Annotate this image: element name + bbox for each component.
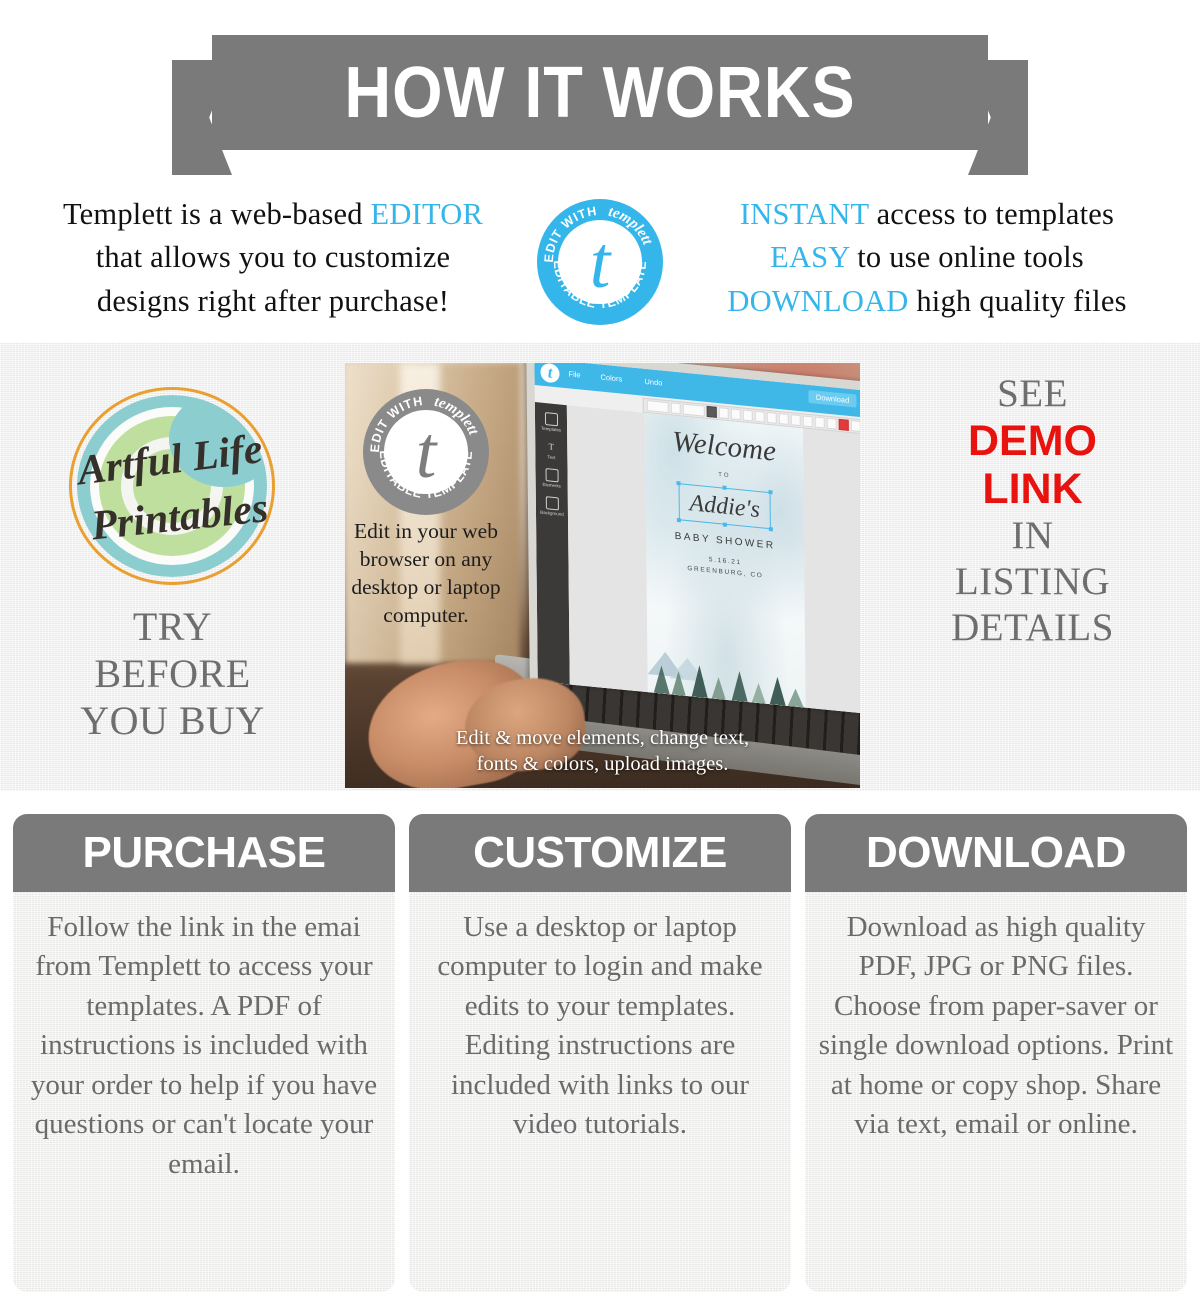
badge-bottom-arc-label: EDITABLE TEMPLATE bbox=[551, 260, 649, 311]
middle-left-column: Artful Life Printables TRY BEFORE YOU BU… bbox=[0, 343, 345, 791]
intro-right-line-1: INSTANT access to templates bbox=[688, 193, 1166, 236]
card-customize-title: CUSTOMIZE bbox=[473, 828, 727, 878]
header-banner: HOW IT WORKS bbox=[0, 0, 1200, 175]
photo-badge-top-arc-brand: templett bbox=[433, 394, 482, 438]
toolbar-align-center-button[interactable] bbox=[767, 412, 777, 424]
demo-link-caption: SEE DEMO LINK IN LISTING DETAILS bbox=[951, 371, 1114, 651]
toolbar-line-spacing-button[interactable] bbox=[791, 414, 801, 426]
sidebar-item-background-label: Background bbox=[539, 509, 565, 517]
toolbar-delete-button[interactable] bbox=[839, 419, 849, 431]
editor-canvas[interactable]: Welcome TO Addie's bbox=[567, 405, 860, 722]
toolbar-align-left-button[interactable] bbox=[755, 411, 765, 423]
toolbar-italic-button[interactable] bbox=[731, 408, 741, 420]
badge-top-arc-brand: templett bbox=[607, 204, 656, 248]
intro-left-line-1-highlight: EDITOR bbox=[371, 197, 483, 231]
template-name-text[interactable]: Addie's bbox=[689, 491, 760, 522]
sidebar-item-elements-label: Elements bbox=[539, 481, 565, 489]
toolbar-opacity-button[interactable] bbox=[815, 417, 825, 429]
try-before-you-buy-caption: TRY BEFORE YOU BUY bbox=[80, 603, 265, 745]
section-divider bbox=[0, 791, 1200, 810]
logo-wordmark: Artful Life Printables bbox=[65, 385, 281, 589]
toolbar-text-color-swatch[interactable] bbox=[707, 406, 717, 418]
card-purchase-title: PURCHASE bbox=[83, 828, 326, 878]
intro-right-line-2-text: to use online tools bbox=[849, 240, 1083, 274]
photo-badge-bottom-arc-label: EDITABLE TEMPLATE bbox=[377, 450, 475, 501]
elements-icon bbox=[545, 468, 558, 482]
intro-right-line-1-text: access to templates bbox=[869, 197, 1114, 231]
artful-life-printables-logo: Artful Life Printables bbox=[65, 385, 281, 589]
sidebar-item-elements[interactable]: Elements bbox=[539, 467, 565, 489]
card-customize: CUSTOMIZE Use a desktop or laptop comput… bbox=[409, 814, 791, 1292]
templates-icon bbox=[544, 412, 557, 426]
intro-left-line-1-text: Templett is a web-based bbox=[63, 197, 371, 231]
toolbar-duplicate-button[interactable] bbox=[827, 418, 837, 430]
intro-right-line-3: DOWNLOAD high quality files bbox=[688, 280, 1166, 323]
photo-caption-line-2: fonts & colors, upload images. bbox=[345, 751, 860, 778]
how-it-works-infographic: HOW IT WORKS Templett is a web-based EDI… bbox=[0, 0, 1200, 1292]
logo-line-2: Printables bbox=[89, 487, 270, 547]
toolbar-more-button[interactable] bbox=[851, 420, 860, 432]
ribbon-body: HOW IT WORKS bbox=[212, 35, 988, 150]
card-customize-body: Use a desktop or laptop computer to logi… bbox=[409, 892, 791, 1292]
middle-right-column: SEE DEMO LINK IN LISTING DETAILS bbox=[865, 343, 1200, 791]
editor-menu-colors[interactable]: Colors bbox=[600, 372, 622, 383]
intro-right-line-2-highlight: EASY bbox=[770, 240, 849, 274]
sidebar-item-text-label: Text bbox=[538, 453, 564, 461]
toolbar-font-color-icon[interactable] bbox=[671, 402, 681, 414]
demo-line-listing: LISTING bbox=[951, 559, 1114, 605]
editor-logo-icon: t bbox=[540, 363, 559, 383]
photo-badge-caption: Edit in your web browser on any desktop … bbox=[345, 518, 511, 630]
sidebar-item-text[interactable]: T Text bbox=[538, 439, 564, 461]
logo-line-1: Artful Life bbox=[75, 428, 264, 492]
sidebar-item-background[interactable]: Background bbox=[539, 495, 565, 517]
card-download-header: DOWNLOAD bbox=[805, 814, 1187, 892]
try-line-3: YOU BUY bbox=[80, 697, 265, 744]
sidebar-item-templates-label: Templates bbox=[538, 425, 564, 433]
card-purchase: PURCHASE Follow the link in the emai fro… bbox=[13, 814, 395, 1292]
photo-bottom-caption: Edit & move elements, change text, fonts… bbox=[345, 725, 860, 778]
card-purchase-header: PURCHASE bbox=[13, 814, 395, 892]
laptop-screen: t File Colors Undo Download Shop Admin H… bbox=[534, 363, 860, 722]
steps-cards-row: PURCHASE Follow the link in the emai fro… bbox=[0, 810, 1200, 1292]
intro-right-line-3-highlight: DOWNLOAD bbox=[727, 284, 908, 318]
intro-row: Templett is a web-based EDITOR that allo… bbox=[0, 175, 1200, 343]
toolbar-rotate-button[interactable] bbox=[803, 415, 813, 427]
demo-line-details: DETAILS bbox=[951, 605, 1114, 651]
sidebar-item-templates[interactable]: Templates bbox=[538, 411, 564, 433]
toolbar-underline-button[interactable] bbox=[743, 409, 753, 421]
card-download-title: DOWNLOAD bbox=[866, 828, 1126, 878]
page-title: HOW IT WORKS bbox=[344, 57, 855, 129]
laptop-photo: t File Colors Undo Download Shop Admin H… bbox=[345, 363, 860, 788]
card-customize-header: CUSTOMIZE bbox=[409, 814, 791, 892]
card-download: DOWNLOAD Download as high quality PDF, J… bbox=[805, 814, 1187, 1292]
templett-badge: t EDIT WITH templett EDITABLE TEMPLATE bbox=[537, 199, 663, 325]
middle-section: Artful Life Printables TRY BEFORE YOU BU… bbox=[0, 343, 1200, 791]
demo-line-demo: DEMO bbox=[951, 417, 1114, 465]
laptop-lid: t File Colors Undo Download Shop Admin H… bbox=[526, 363, 860, 722]
toolbar-font-family[interactable] bbox=[647, 400, 669, 413]
photo-badge-top-arc-label: EDIT WITH bbox=[368, 394, 424, 453]
toolbar-bold-button[interactable] bbox=[719, 407, 729, 419]
photo-caption-line-1: Edit & move elements, change text, bbox=[345, 725, 860, 752]
card-download-body: Download as high quality PDF, JPG or PNG… bbox=[805, 892, 1187, 1292]
template-preview[interactable]: Welcome TO Addie's bbox=[645, 413, 806, 708]
demo-line-in: IN bbox=[951, 513, 1114, 559]
text-icon: T bbox=[545, 440, 558, 454]
badge-top-arc-label: EDIT WITH bbox=[542, 204, 598, 263]
intro-left-line-2: that allows you to customize bbox=[34, 236, 512, 279]
badge-arc-text: EDIT WITH templett EDITABLE TEMPLATE bbox=[537, 199, 663, 325]
demo-line-see: SEE bbox=[951, 371, 1114, 417]
card-purchase-body: Follow the link in the emai from Templet… bbox=[13, 892, 395, 1292]
toolbar-align-right-button[interactable] bbox=[779, 413, 789, 425]
photo-badge-arc-text: EDIT WITH templett EDITABLE TEMPLATE bbox=[363, 389, 489, 515]
demo-line-link: LINK bbox=[951, 465, 1114, 513]
editor-sidebar: Templates T Text Elements bbox=[535, 402, 570, 684]
try-line-2: BEFORE bbox=[80, 650, 265, 697]
photo-templett-badge: t EDIT WITH templett bbox=[363, 389, 489, 515]
toolbar-font-size[interactable] bbox=[683, 404, 705, 417]
editor-download-button[interactable]: Download bbox=[809, 390, 856, 408]
editor-menu-file[interactable]: File bbox=[568, 369, 580, 379]
background-icon bbox=[545, 496, 558, 510]
intro-right-line-1-highlight: INSTANT bbox=[740, 197, 869, 231]
editor-top-right-actions: Download Shop Admin Help bbox=[809, 390, 860, 416]
try-line-1: TRY bbox=[80, 603, 265, 650]
intro-right-line-2: EASY to use online tools bbox=[688, 236, 1166, 279]
intro-left-line-3: designs right after purchase! bbox=[34, 280, 512, 323]
intro-right-line-3-text: high quality files bbox=[909, 284, 1127, 318]
editor-menu-undo[interactable]: Undo bbox=[644, 377, 662, 388]
intro-right-text: INSTANT access to templates EASY to use … bbox=[688, 193, 1166, 323]
intro-left-line-1: Templett is a web-based EDITOR bbox=[34, 193, 512, 236]
intro-left-text: Templett is a web-based EDITOR that allo… bbox=[34, 193, 512, 323]
photo-templett-badge-group: t EDIT WITH templett bbox=[363, 383, 489, 515]
